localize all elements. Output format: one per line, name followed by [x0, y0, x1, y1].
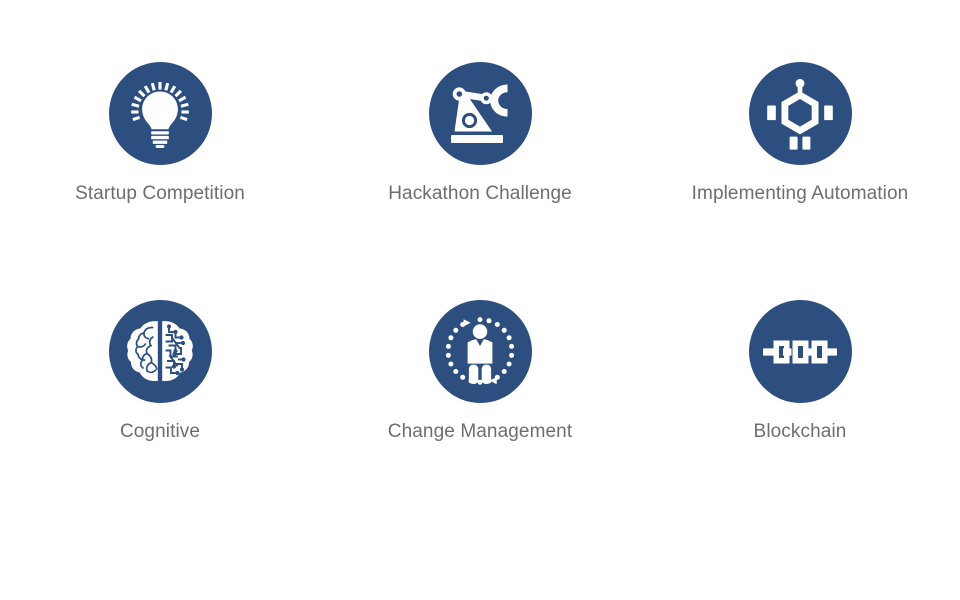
grid-item-change-management[interactable]: Change Management [320, 300, 640, 538]
icon-badge-startup-competition[interactable] [109, 62, 212, 165]
grid-item-label: Startup Competition [75, 183, 245, 205]
grid-item-startup-competition[interactable]: Startup Competition [0, 62, 320, 300]
chain-links-icon [763, 337, 837, 367]
robotic-arm-icon [445, 79, 515, 149]
brain-circuit-icon [125, 317, 195, 387]
grid-item-label: Blockchain [754, 421, 847, 443]
icon-grid: Startup Competition [0, 0, 960, 600]
grid-item-cognitive[interactable]: Cognitive [0, 300, 320, 538]
icon-badge-hackathon-challenge[interactable] [429, 62, 532, 165]
person-change-cycle-icon [443, 315, 517, 389]
grid-item-blockchain[interactable]: Blockchain [640, 300, 960, 538]
robot-icon [764, 78, 836, 150]
grid-item-label: Hackathon Challenge [388, 183, 572, 205]
grid-item-label: Change Management [388, 421, 572, 443]
lightbulb-icon [124, 78, 196, 150]
icon-badge-cognitive[interactable] [109, 300, 212, 403]
grid-item-hackathon-challenge[interactable]: Hackathon Challenge [320, 62, 640, 300]
icon-badge-change-management[interactable] [429, 300, 532, 403]
icon-badge-implementing-automation[interactable] [749, 62, 852, 165]
icon-badge-blockchain[interactable] [749, 300, 852, 403]
grid-item-label: Implementing Automation [692, 183, 909, 205]
grid-item-implementing-automation[interactable]: Implementing Automation [640, 62, 960, 300]
grid-item-label: Cognitive [120, 421, 200, 443]
